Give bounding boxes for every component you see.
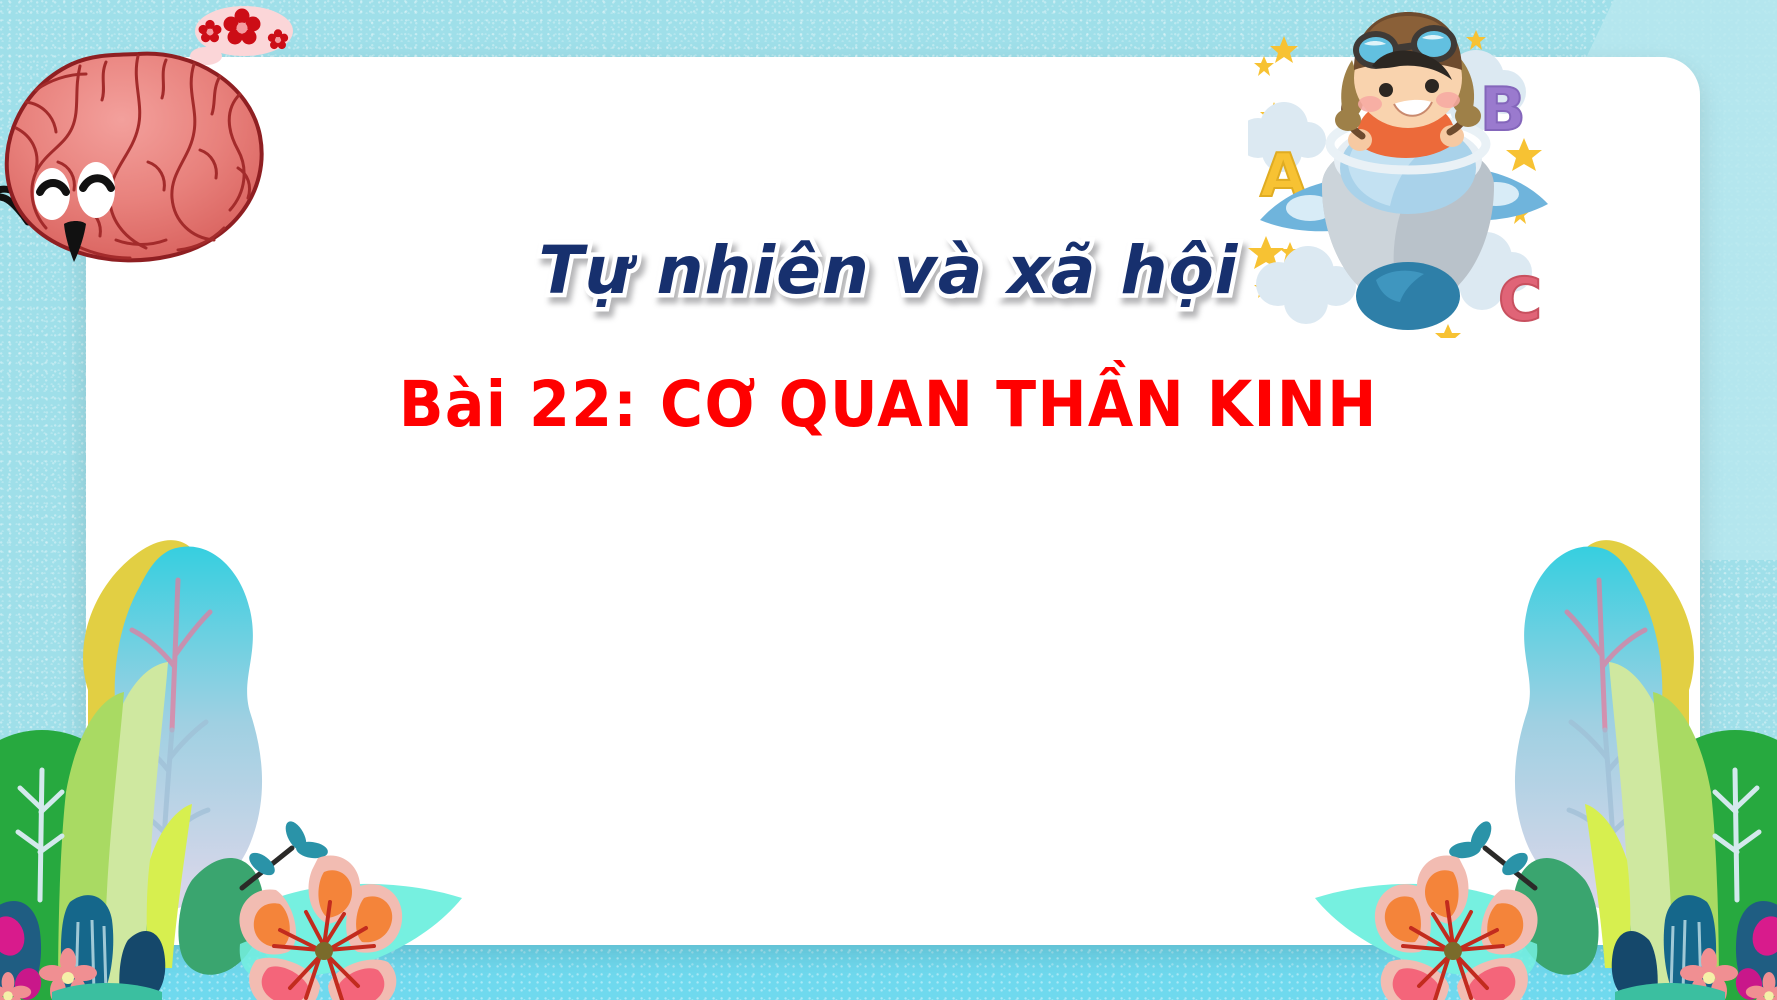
flower-petals (1375, 856, 1538, 1000)
brain-mascot-icon (0, 32, 288, 282)
tropical-flower-right-icon (1365, 850, 1545, 1000)
tropical-flower-left-icon (232, 850, 412, 1000)
svg-text:C: C (1498, 265, 1542, 335)
slide-canvas: Tự nhiên và xã hội Bài 22: CƠ QUAN THẦN … (0, 0, 1777, 1000)
flower-petals (239, 856, 402, 1000)
pilot-kid-airplane-icon: A B C (1248, 8, 1568, 338)
